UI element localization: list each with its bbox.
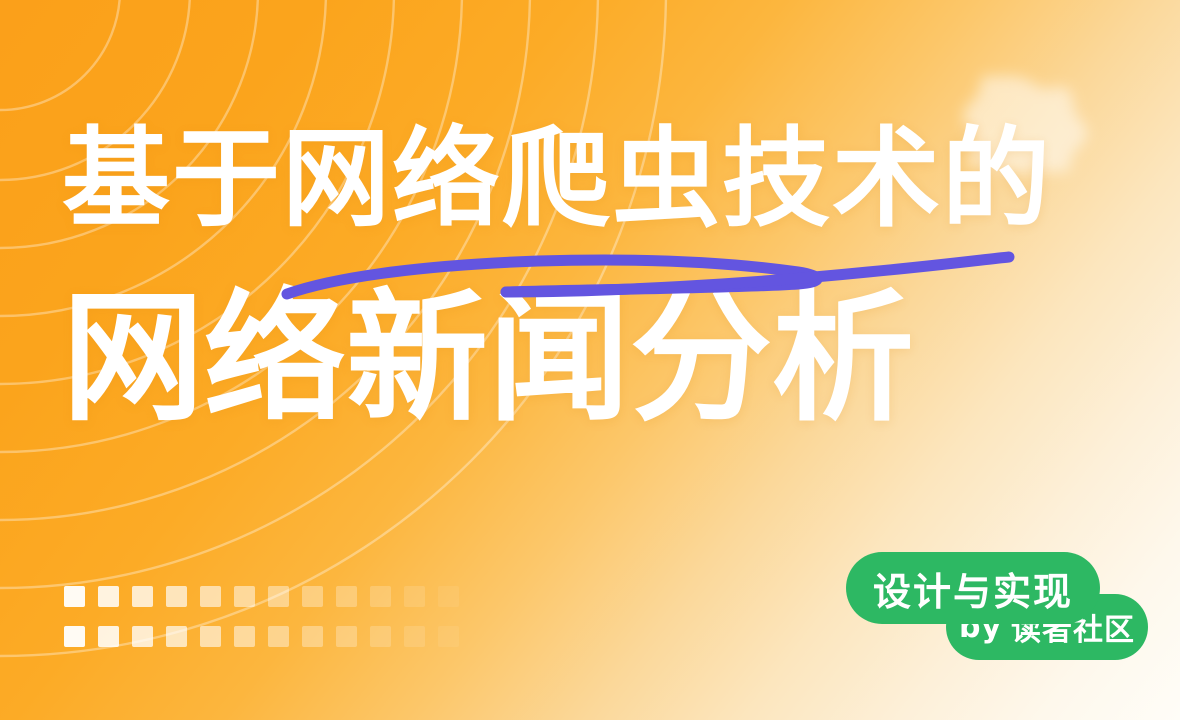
poster-canvas: 基于网络爬虫技术的 网络新闻分析 by 读者社区 设计与实现 bbox=[0, 0, 1180, 720]
square-dot-grid-icon bbox=[64, 586, 472, 658]
badge-primary-pill: 设计与实现 bbox=[846, 552, 1100, 624]
title-line-1: 基于网络爬虫技术的 bbox=[62, 126, 1132, 244]
title-line-2: 网络新闻分析 bbox=[62, 288, 1132, 444]
badge: by 读者社区 设计与实现 bbox=[846, 552, 1148, 672]
headline-block: 基于网络爬虫技术的 网络新闻分析 bbox=[62, 126, 1132, 444]
